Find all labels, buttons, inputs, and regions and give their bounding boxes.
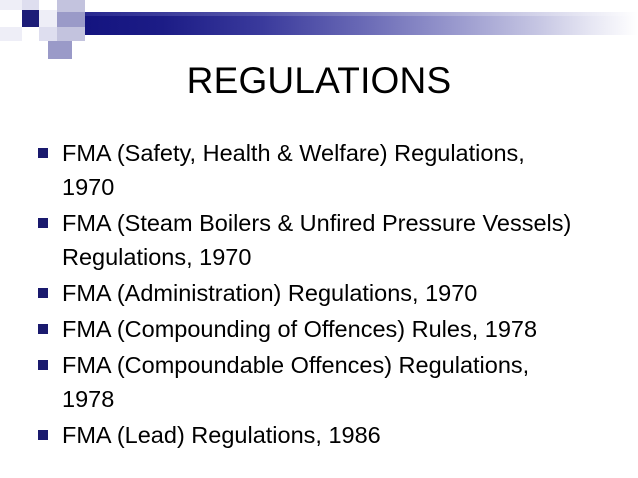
list-item: FMA (Lead) Regulations, 1986	[38, 418, 618, 452]
list-item: FMA (Compoundable Offences) Regulations,…	[38, 348, 618, 416]
list-item: FMA (Steam Boilers & Unfired Pressure Ve…	[38, 206, 618, 274]
list-item-text: FMA (Compounding of Offences) Rules, 197…	[62, 312, 578, 346]
decoration-square-faint-bar-left	[22, 0, 39, 10]
bullet-square-icon	[38, 148, 48, 158]
bullet-square-icon	[38, 288, 48, 298]
bullet-square-icon	[38, 218, 48, 228]
slide-header-decoration	[0, 0, 638, 60]
bullet-square-icon	[38, 324, 48, 334]
list-item: FMA (Administration) Regulations, 1970	[38, 276, 618, 310]
slide-canvas: REGULATIONS FMA (Safety, Health & Welfar…	[0, 0, 638, 478]
list-item-text: FMA (Steam Boilers & Unfired Pressure Ve…	[62, 206, 578, 274]
header-gradient-bar	[85, 12, 638, 35]
header-gradient-bar-highlight	[85, 12, 638, 16]
decoration-square-pale-lower	[39, 27, 57, 41]
list-item-text: FMA (Lead) Regulations, 1986	[62, 418, 578, 452]
decoration-square-dark-navy	[22, 10, 39, 27]
decoration-square-light-mid	[57, 12, 85, 27]
list-item-text: FMA (Safety, Health & Welfare) Regulatio…	[62, 136, 578, 204]
decoration-square-light-left-edge	[0, 27, 22, 41]
slide-bullet-list: FMA (Safety, Health & Welfare) Regulatio…	[38, 136, 618, 454]
decoration-square-mid-lower	[57, 27, 85, 41]
list-item-text: FMA (Administration) Regulations, 1970	[62, 276, 578, 310]
decoration-square-mid-top	[57, 0, 85, 12]
list-item-text: FMA (Compoundable Offences) Regulations,…	[62, 348, 578, 416]
bullet-square-icon	[38, 430, 48, 440]
list-item: FMA (Safety, Health & Welfare) Regulatio…	[38, 136, 618, 204]
decoration-square-pale-mid	[39, 10, 57, 27]
slide-title: REGULATIONS	[0, 58, 638, 104]
bullet-square-icon	[38, 360, 48, 370]
decoration-square-mid-bottom	[48, 41, 72, 59]
decoration-square-pale-upper-left	[0, 0, 22, 10]
list-item: FMA (Compounding of Offences) Rules, 197…	[38, 312, 618, 346]
